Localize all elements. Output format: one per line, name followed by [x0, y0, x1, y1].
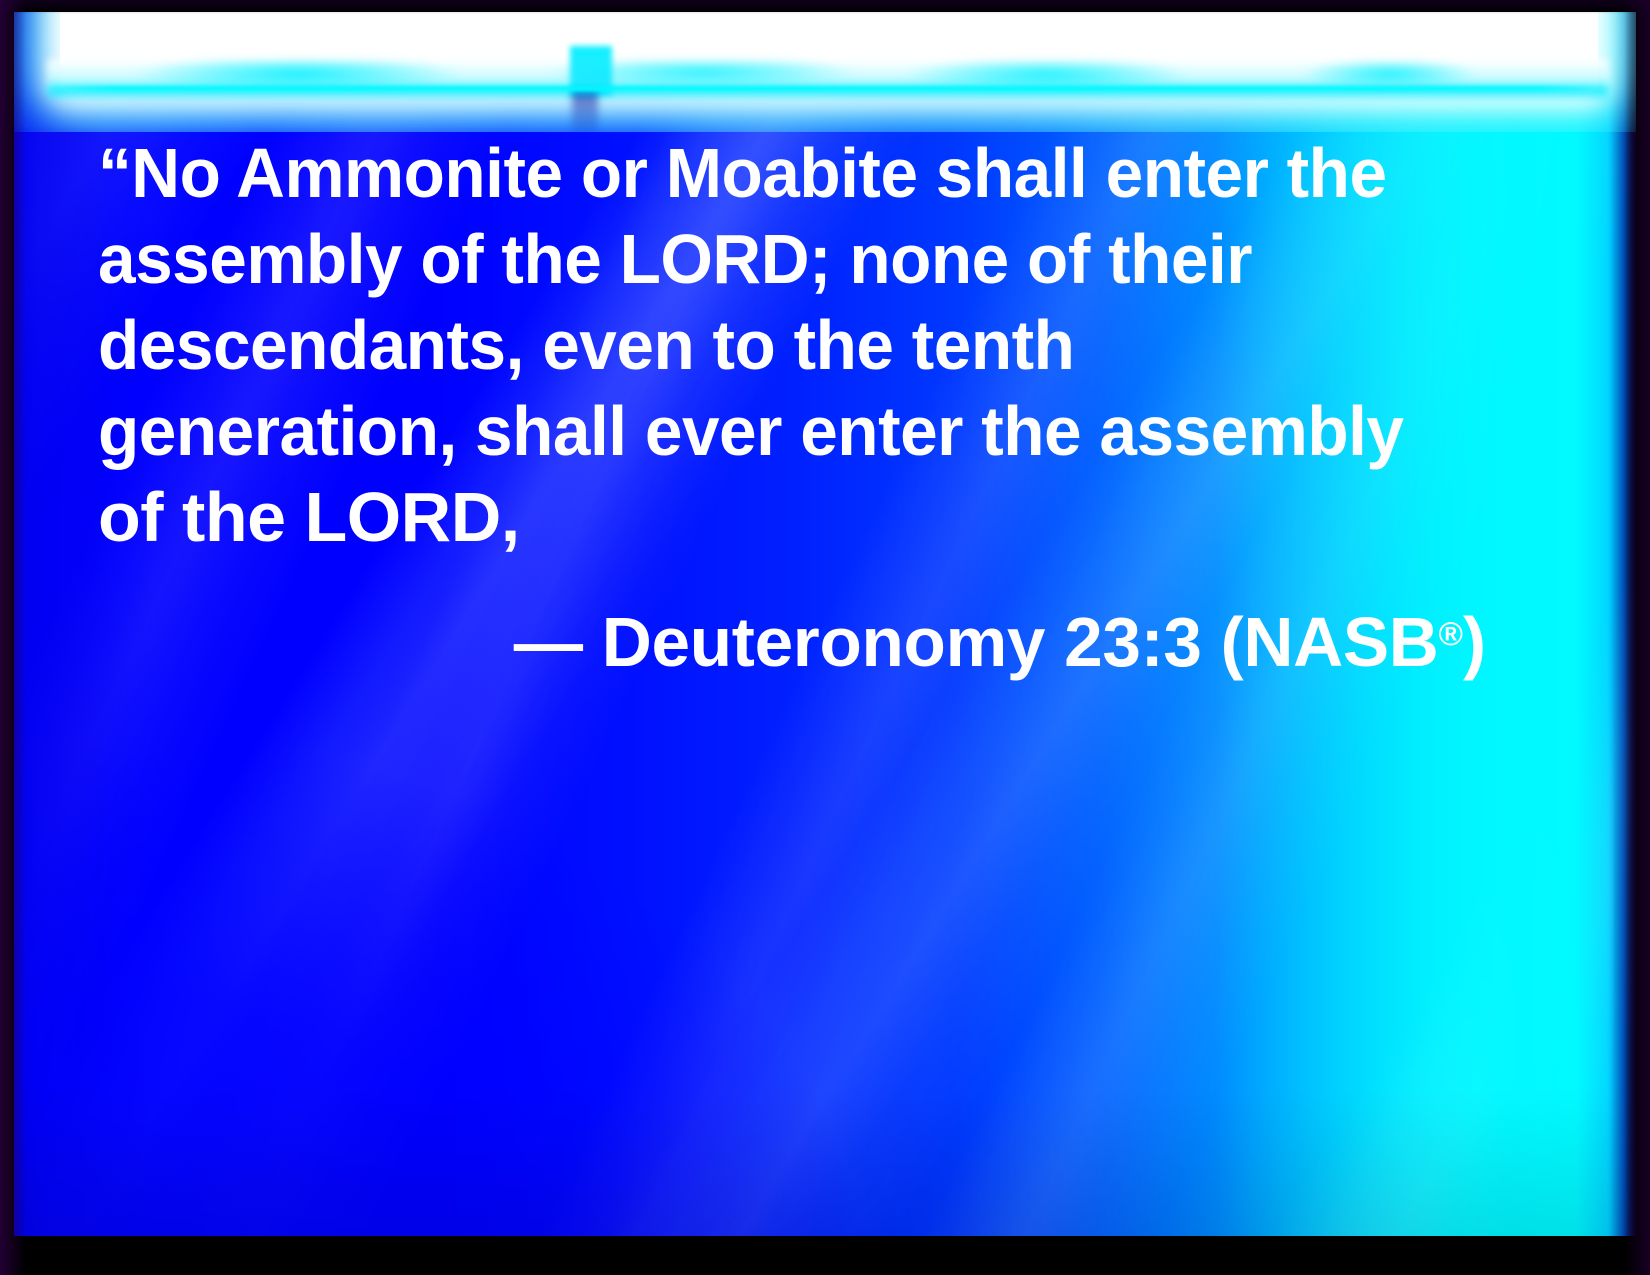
top-glow-cyan-diffusion — [48, 60, 1608, 100]
slide-frame: “No Ammonite or Moabite shall enter the … — [0, 0, 1650, 1275]
verse-text-block: “No Ammonite or Moabite shall enter the … — [98, 130, 1518, 685]
slide-canvas: “No Ammonite or Moabite shall enter the … — [14, 12, 1636, 1236]
verse-line-5: of the LORD, — [98, 474, 1518, 560]
top-glow-cyan-rule — [36, 86, 1616, 91]
verse-attribution: — Deuteronomy 23:3 (NASB®) — [98, 592, 1504, 685]
verse-line-3: descendants, even to the tenth — [98, 302, 1468, 388]
attribution-main-text: — Deuteronomy 23:3 (NASB — [514, 603, 1439, 681]
verse-line-4: generation, shall ever enter the assembl… — [98, 388, 1468, 474]
attribution-closing-paren: ) — [1463, 603, 1486, 681]
registered-trademark-icon: ® — [1439, 616, 1464, 653]
verse-line-2: assembly of the LORD; none of their — [98, 216, 1468, 302]
verse-line-1: “No Ammonite or Moabite shall enter the — [98, 130, 1468, 216]
top-glow-dark-seam — [572, 92, 598, 132]
top-glow-band — [14, 12, 1636, 132]
